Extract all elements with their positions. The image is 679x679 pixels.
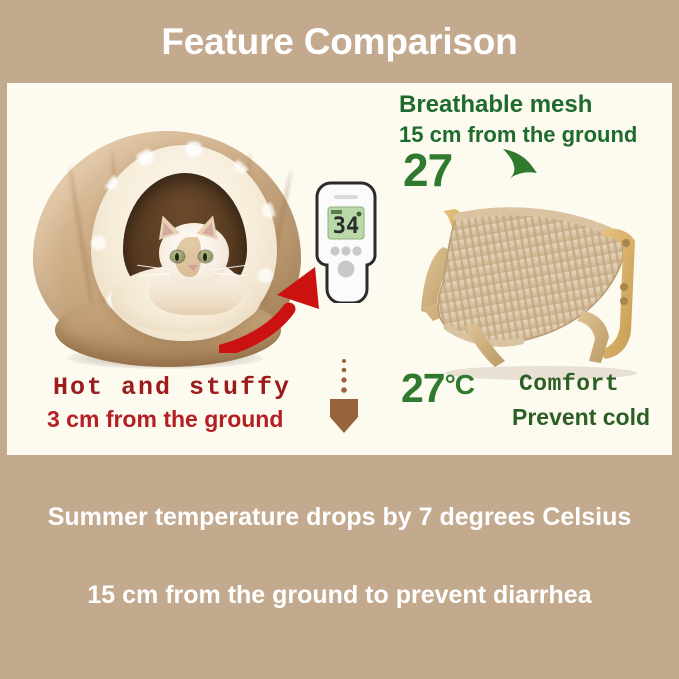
footer-line-1: Summer temperature drops by 7 degrees Ce… [0,503,679,532]
comfort-temperature-value: 27°C [401,365,474,412]
hot-and-stuffy-label: Hot and stuffy [53,373,291,402]
feature-comparison-poster: Feature Comparison [0,0,679,679]
mesh-temperature-value: 27 [403,143,452,197]
poster-header: Feature Comparison [0,0,679,83]
wooden-mesh-pet-bed-image [391,191,671,381]
breathable-mesh-label: Breathable mesh [399,91,592,119]
cat-eye-left [171,251,184,262]
poster-footer: Summer temperature drops by 7 degrees Ce… [0,455,679,679]
comfort-label: Comfort [519,371,619,397]
cat-nose [188,265,198,271]
infrared-thermometer-image: 34 [315,181,377,303]
comfort-temperature-unit: °C [445,369,474,400]
cat-eye-right [199,251,212,262]
comparison-panel: 34 Breathable mesh 15 cm from the ground… [7,83,672,455]
thermometer-reading: 34 [333,214,360,239]
page-title: Feature Comparison [161,21,517,63]
bed-height-label: 3 cm from the ground [47,406,283,433]
prevent-cold-label: Prevent cold [512,404,650,431]
footer-line-2: 15 cm from the ground to prevent diarrhe… [0,581,679,610]
red-curved-arrow-icon [219,265,329,353]
brown-down-arrow-icon [326,355,362,433]
comfort-temperature-number: 27 [401,365,445,411]
green-chevron-arrow-icon [497,145,543,189]
